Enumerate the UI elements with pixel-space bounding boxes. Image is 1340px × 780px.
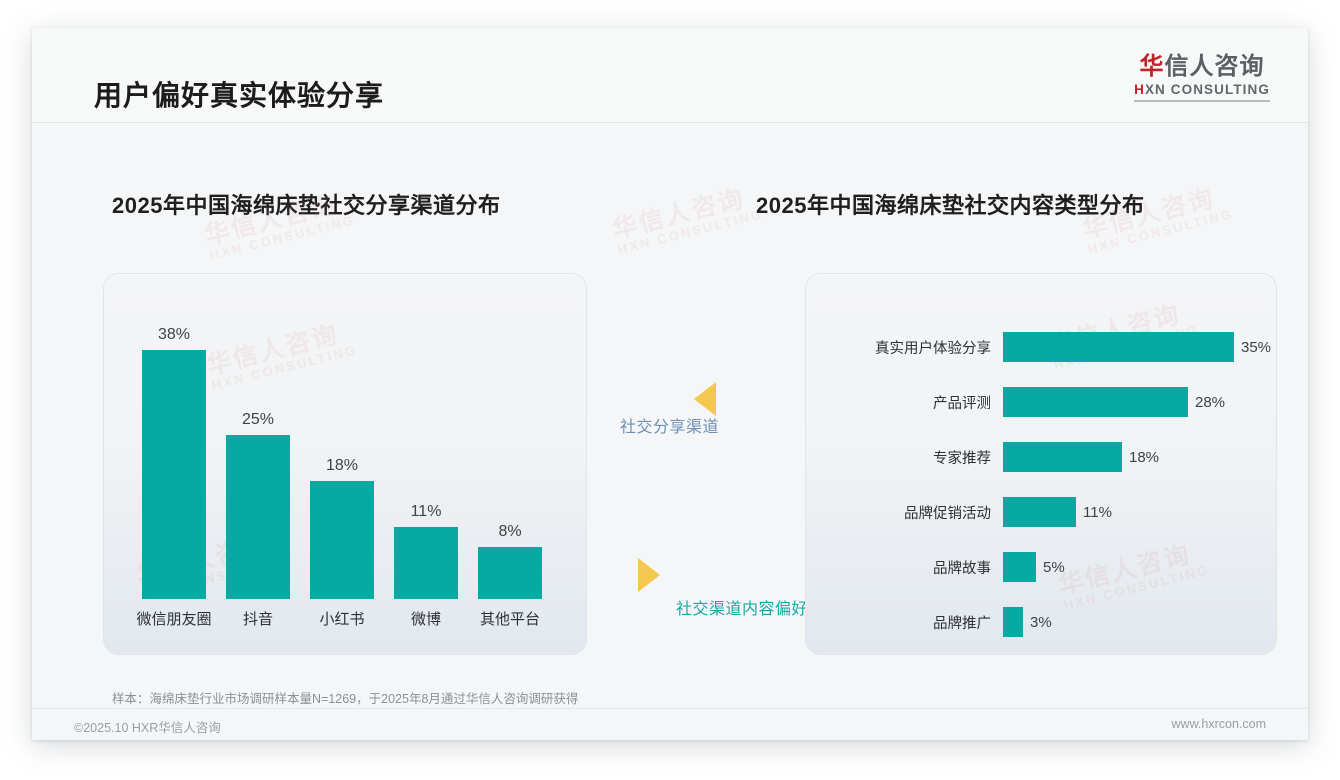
bar-row: 真实用户体验分享35% [806,332,1276,362]
bar[interactable] [1003,442,1122,472]
category-label: 其他平台 [480,608,540,629]
bar-column: 25%抖音 [226,411,290,599]
horizontal-bar-chart: 真实用户体验分享35%产品评测28%专家推荐18%品牌促销活动11%品牌故事5%… [806,274,1276,654]
bar[interactable] [1003,332,1234,362]
vertical-bar-chart: 38%微信朋友圈25%抖音18%小红书11%微博8%其他平台 [104,274,586,654]
bar-value-label: 11% [394,503,458,521]
bar-column: 18%小红书 [310,457,374,599]
category-label: 微信朋友圈 [136,608,211,629]
bar-row: 品牌推广3% [806,607,1276,637]
bar[interactable] [394,527,458,599]
annotation-label: 社交渠道内容偏好 [676,601,808,618]
logo-english-rest: XN CONSULTING [1145,82,1270,97]
category-label: 品牌故事 [806,557,1003,578]
logo-chinese-text: 华信人咨询 [1134,53,1270,81]
watermark: 华信人咨询HXN CONSULTING [610,182,765,257]
bar[interactable] [1003,552,1036,582]
bar-row: 品牌促销活动11% [806,497,1276,527]
bar-value-label: 38% [142,326,206,344]
bar-value-label: 8% [478,523,542,541]
bar-value-label: 28% [1188,394,1225,411]
category-label: 小红书 [319,608,364,629]
category-label: 品牌推广 [806,612,1003,633]
sample-footnote: 样本：海绵床垫行业市场调研样本量N=1269，于2025年8月通过华信人咨询调研… [112,688,578,707]
logo-english-text: HXN CONSULTING [1134,82,1270,97]
left-chart-panel: 华信人咨询HXN CONSULTING 华信人咨询HXN CONSULTING … [103,273,587,655]
category-label: 品牌促销活动 [806,502,1003,523]
annotation-label: 社交分享渠道 [620,419,719,436]
slide-header: 用户偏好真实体验分享 华信人咨询 HXN CONSULTING [32,28,1308,123]
bar[interactable] [478,547,542,599]
company-logo: 华信人咨询 HXN CONSULTING [1134,53,1270,102]
category-label: 微博 [411,608,441,629]
bar[interactable] [310,481,374,599]
slide-canvas: 用户偏好真实体验分享 华信人咨询 HXN CONSULTING 2025年中国海… [32,28,1308,740]
page-title: 用户偏好真实体验分享 [94,74,384,114]
bar-value-label: 18% [310,457,374,475]
logo-chinese-rest: 信人咨询 [1165,53,1265,80]
bar[interactable] [1003,607,1023,637]
bar-column: 11%微博 [394,503,458,599]
bar[interactable] [1003,497,1076,527]
annotation-content-preference: 社交渠道内容偏好 [676,595,808,619]
bar-value-label: 5% [1036,559,1065,576]
triangle-right-icon [638,558,660,592]
annotation-social-channel: 社交分享渠道 [620,413,719,437]
copyright-text: ©2025.10 HXR华信人咨询 [74,717,221,736]
logo-chinese-accent: 华 [1140,53,1165,80]
bar-row: 品牌故事5% [806,552,1276,582]
bar-value-label: 35% [1234,339,1271,356]
category-label: 真实用户体验分享 [806,337,1003,358]
bar-column: 38%微信朋友圈 [142,326,206,599]
bar-value-label: 3% [1023,614,1052,631]
logo-english-accent: H [1134,82,1145,97]
triangle-left-icon [694,382,716,416]
bar-value-label: 25% [226,411,290,429]
bar-value-label: 11% [1076,504,1112,521]
left-chart-title: 2025年中国海绵床垫社交分享渠道分布 [112,188,500,220]
bar[interactable] [142,350,206,599]
category-label: 产品评测 [806,392,1003,413]
website-link[interactable]: www.hxrcon.com [1172,717,1266,731]
slide-footer: ©2025.10 HXR华信人咨询 www.hxrcon.com [32,708,1308,740]
category-label: 抖音 [243,608,273,629]
bar-column: 8%其他平台 [478,523,542,599]
bar-row: 专家推荐18% [806,442,1276,472]
bar-value-label: 18% [1122,449,1159,466]
category-label: 专家推荐 [806,447,1003,468]
right-chart-panel: 华信人咨询HXN CONSULTING 华信人咨询HXN CONSULTING … [805,273,1277,655]
bar[interactable] [226,435,290,599]
bar-row: 产品评测28% [806,387,1276,417]
right-chart-title: 2025年中国海绵床垫社交内容类型分布 [756,188,1144,220]
bar[interactable] [1003,387,1188,417]
